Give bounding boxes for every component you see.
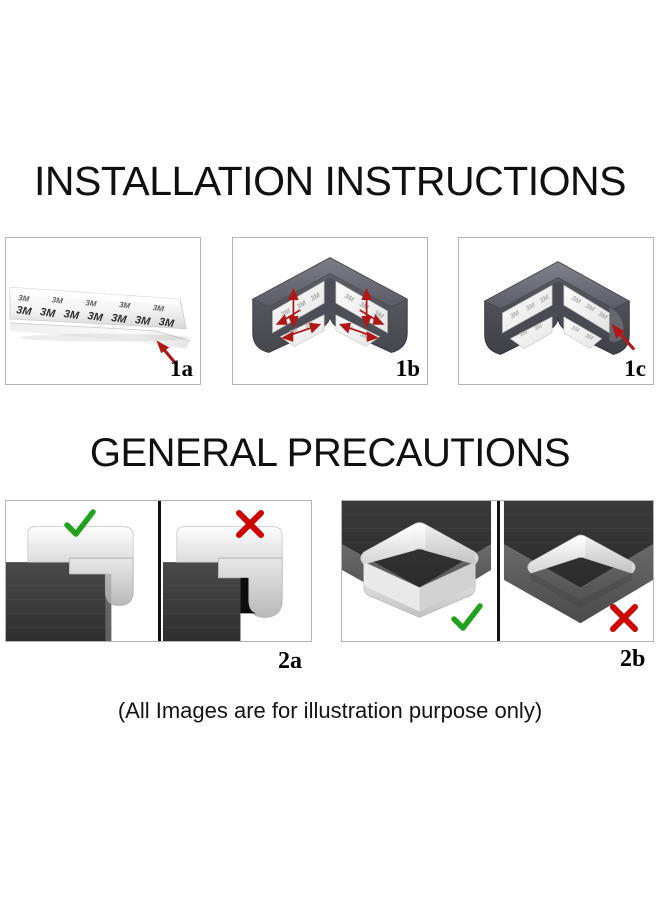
cross-icon [233,507,267,541]
page-title-precautions: GENERAL PRECAUTIONS [0,430,660,476]
panel-divider [497,501,500,641]
svg-text:3M: 3M [63,308,81,322]
svg-text:3M: 3M [85,298,98,308]
check-icon [63,507,97,541]
step-panel-1b: 3M 3M 3M 3M 3M 3M 3M 3M [232,237,428,385]
precaution-label-2a: 2a [278,650,302,673]
svg-text:3M: 3M [134,314,152,328]
check-icon [450,601,484,635]
precaution-label-2b: 2b [620,648,645,671]
step-label-1c: 1c [624,357,646,380]
precaution-panel-2a [5,500,312,642]
svg-text:3M: 3M [15,304,33,318]
step-panel-1c: 3M 3M 3M 3M 3M 3M 3M 3M [458,237,654,385]
precaution-panel-2b [341,500,654,642]
svg-text:3M: 3M [152,303,165,313]
cross-icon [607,601,641,635]
disclaimer-note: (All Images are for illustration purpose… [0,697,660,725]
page-title-installation: INSTALLATION INSTRUCTIONS [0,158,660,204]
step-label-1b: 1b [396,357,420,380]
svg-text:3M: 3M [39,306,57,320]
step-panel-1a: 3M 3M 3M 3M 3M 3M 3M 3M 3M 3M 3M 3M [5,237,201,385]
svg-text:3M: 3M [158,316,176,330]
svg-text:3M: 3M [119,300,132,310]
step-label-1a: 1a [170,357,193,380]
svg-text:3M: 3M [18,293,31,303]
svg-text:3M: 3M [51,295,64,305]
svg-text:3M: 3M [87,310,105,324]
panel-divider [158,501,161,641]
svg-text:3M: 3M [110,312,128,326]
